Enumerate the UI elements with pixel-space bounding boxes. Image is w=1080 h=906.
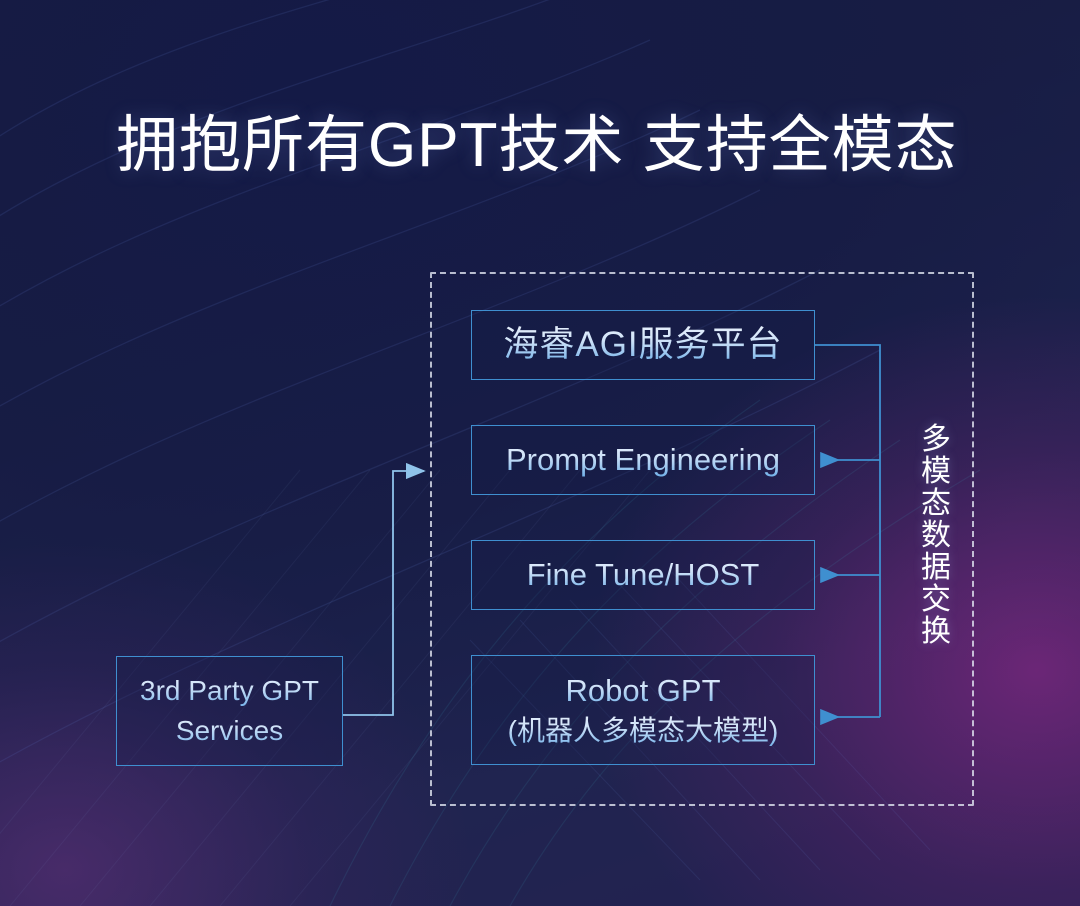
box-robot-gpt-sublabel: (机器人多模态大模型) xyxy=(508,711,779,751)
vlabel-char-3: 数 xyxy=(918,520,954,552)
box-robot-gpt-label: Robot GPT xyxy=(565,670,720,711)
box-fine-tune-host[interactable]: Fine Tune/HOST xyxy=(471,540,815,610)
box-third-party-gpt-label: 3rd Party GPT xyxy=(140,671,319,711)
vlabel-char-6: 换 xyxy=(918,616,954,648)
slide-canvas: 拥抱所有GPT技术 支持全模态 海睿AGI服务平台 xyxy=(0,0,1080,906)
box-prompt-engineering-label: Prompt Engineering xyxy=(506,440,780,480)
box-agi-platform-label: 海睿AGI服务平台 xyxy=(503,323,782,367)
box-agi-platform[interactable]: 海睿AGI服务平台 xyxy=(471,310,815,380)
page-title: 拥抱所有GPT技术 支持全模态 xyxy=(116,110,958,182)
box-prompt-engineering[interactable]: Prompt Engineering xyxy=(471,425,815,495)
vlabel-char-2: 态 xyxy=(918,488,954,520)
box-fine-tune-host-label: Fine Tune/HOST xyxy=(527,555,760,595)
vlabel-char-1: 模 xyxy=(918,456,954,488)
box-third-party-gpt-sublabel: Services xyxy=(176,711,283,751)
vlabel-char-5: 交 xyxy=(918,584,954,616)
wire-thirdparty-to-region xyxy=(343,471,424,715)
vertical-label-multimodal-data-exchange: 多 模 态 数 据 交 换 xyxy=(918,424,954,648)
vlabel-char-0: 多 xyxy=(918,424,954,456)
vlabel-char-4: 据 xyxy=(918,552,954,584)
box-third-party-gpt[interactable]: 3rd Party GPT Services xyxy=(116,656,343,766)
box-robot-gpt[interactable]: Robot GPT (机器人多模态大模型) xyxy=(471,655,815,765)
